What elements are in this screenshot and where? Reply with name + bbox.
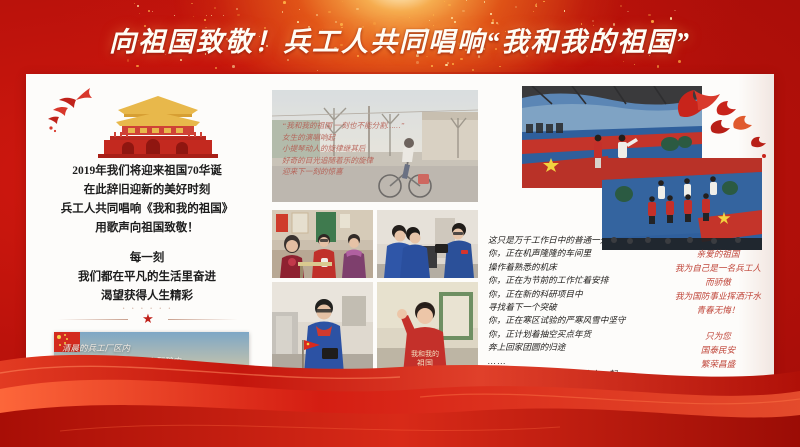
sparkle-dot: [678, 60, 681, 63]
photo-two-workers-blue-uniform: [377, 210, 478, 278]
bike-caption-4: 好奇的目光追随着乐的旋律: [282, 156, 373, 165]
sparkle-dot: [134, 3, 135, 4]
page-title: 向祖国致敬！兵工人共同唱响“我和我的祖国”: [0, 20, 800, 59]
right-line-4: 我为国防事业挥洒汗水: [675, 291, 761, 301]
sparkle-dot: [490, 13, 491, 14]
sparkle-dot: [445, 64, 448, 67]
sparkle-dot: [499, 66, 501, 68]
bottom-silk-ribbon: [0, 327, 800, 447]
bike-caption-5: 迎来下一刻的惊喜: [282, 167, 343, 176]
sparkle-dot: [431, 65, 433, 67]
left-line-1: 2019年我们将迎来祖国70华诞: [72, 165, 222, 177]
poem-line-7: 你，正在寒区试验的严寒风雪中坚守: [488, 315, 626, 325]
tiananmen-gate-icon: [88, 88, 228, 158]
sparkle-dot: [433, 14, 435, 16]
sparkle-dot: [328, 11, 330, 13]
bike-caption-3: 小提琴动人的旋律继其后: [282, 144, 366, 153]
star-divider: • • • • • • ★: [58, 310, 238, 328]
header-banner: 向祖国致敬！兵工人共同唱响“我和我的祖国”: [0, 0, 800, 72]
poem-line-4: 你，正在为节前的工作忙着安排: [488, 275, 608, 285]
sparkle-dot: [193, 16, 194, 17]
right-line-2: 我为自己是一名兵工人: [675, 263, 761, 273]
text-gap: [38, 238, 256, 249]
poem-line-5: 你，正在新的科研项目中: [488, 289, 583, 299]
right-line-3: 而骄傲: [705, 277, 731, 287]
sparkle-dot: [674, 10, 675, 11]
poster-root: 向祖国致敬！兵工人共同唱响“我和我的祖国”: [0, 0, 800, 447]
sparkle-dot: [515, 6, 517, 8]
left-line-7: 渴望获得人生精彩: [101, 290, 193, 302]
sparkle-dot: [317, 70, 318, 71]
bicycle-photo-caption: “我和我的祖国 一刻也不能分割……” 女生的演唱响起 小提琴动人的旋律继其后 好…: [282, 120, 442, 178]
right-line-1: 亲爱的祖国: [697, 249, 740, 259]
sparkle-dot: [342, 1, 343, 2]
sparkle-dot: [215, 67, 217, 69]
sparkle-dot: [152, 11, 153, 12]
left-line-2: 在此辞旧迎新的美好时刻: [84, 184, 211, 196]
sparkle-dot: [627, 11, 628, 12]
left-line-6: 我们都在平凡的生活里奋进: [78, 271, 216, 283]
sparkle-dot: [634, 64, 635, 65]
sparkle-dot: [448, 4, 451, 7]
left-intro-text: 2019年我们将迎来祖国70华诞 在此辞旧迎新的美好时刻 兵工人共同唱响《我和我…: [38, 162, 256, 306]
poem-line-2: 你，正在机声隆隆的车间里: [488, 248, 591, 258]
workers-corridor-scene: [377, 210, 478, 278]
left-line-4: 用歌声向祖国致敬！: [95, 222, 199, 234]
sparkle-dot: [282, 11, 283, 12]
sparkle-dot: [127, 59, 130, 62]
bike-caption-2: 女生的演唱响起: [282, 133, 335, 142]
bike-caption-1: “我和我的祖国 一刻也不能分割……”: [282, 121, 405, 130]
poem-line-1: 这只是万千工作日中的普通一天: [488, 235, 608, 245]
divider-line-left: [58, 319, 128, 320]
red-doves-icon: [668, 86, 772, 162]
sparkle-dot: [139, 13, 140, 14]
sparkle-dot: [287, 59, 289, 61]
right-line-5: 青春无悔！: [697, 305, 740, 315]
photo-girl-on-bicycle: “我和我的祖国 一刻也不能分割……” 女生的演唱响起 小提琴动人的旋律继其后 好…: [272, 90, 478, 202]
sparkle-dot: [214, 7, 216, 9]
sparkle-dot: [148, 10, 150, 12]
sparkle-dot: [416, 61, 419, 64]
photo-classroom-singers: [272, 210, 373, 278]
sparkle-dot: [232, 65, 235, 68]
sparkle-dot: [564, 10, 566, 12]
silk-wave-graphic: [0, 327, 800, 447]
divider-line-right: [168, 319, 238, 320]
photo-gymnasium-group-red-jackets: [602, 158, 762, 250]
sparkle-dot: [283, 1, 286, 4]
gym-group-scene: [602, 158, 762, 250]
poem-line-6: 寻找着下一个突破: [488, 302, 557, 312]
divider-star-icon: ★: [142, 312, 154, 325]
classroom-scene: [272, 210, 373, 278]
left-line-3: 兵工人共同唱响《我和我的祖国》: [61, 203, 234, 215]
sparkle-dot: [136, 65, 138, 67]
left-line-5: 每一刻: [130, 252, 165, 264]
sparkle-dot: [137, 5, 139, 7]
poem-line-3: 操作着熟悉的机床: [488, 262, 557, 272]
